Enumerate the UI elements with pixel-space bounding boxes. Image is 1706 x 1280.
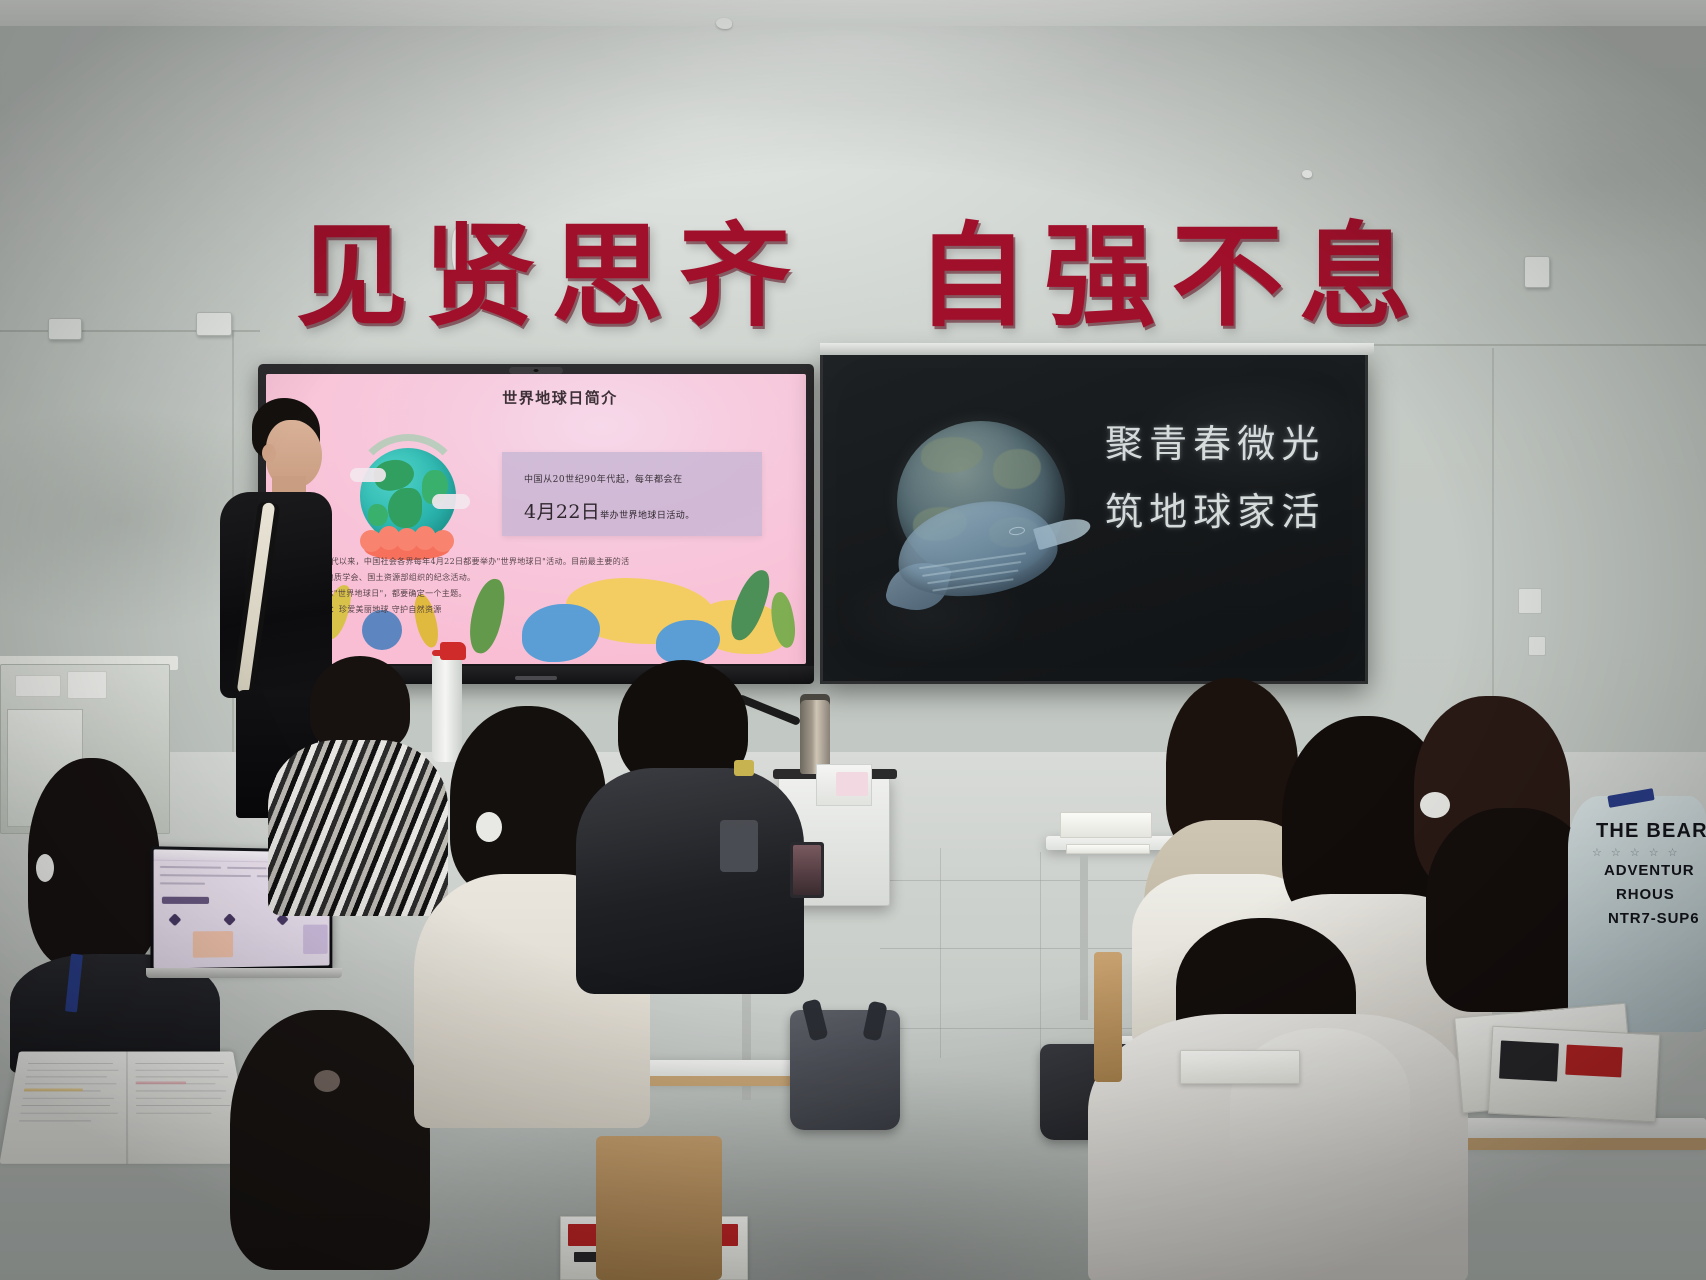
laptop-keyboard[interactable] (146, 968, 342, 978)
wall-joint (1492, 348, 1494, 748)
hair-tie (36, 854, 54, 882)
wall-chip (1302, 170, 1312, 178)
jacket-panel (720, 820, 758, 872)
smartboard-display[interactable]: 世界地球日简介 (258, 364, 814, 684)
wall-chip (716, 18, 732, 29)
callout-line1: 中国从20世纪90年代起，每年都会在 (524, 472, 683, 485)
paper-title-band (1565, 1045, 1622, 1078)
chalk-slogan-line1: 聚青春微光 (1105, 413, 1325, 468)
jacket-text-line3: RHOUS (1616, 886, 1675, 903)
student-center-2 (580, 660, 800, 990)
jacket-text-line4: NTR7-SUP6 (1608, 910, 1699, 927)
whale-groove (922, 561, 1021, 577)
notebook (1180, 1050, 1300, 1084)
chalk-slogan-line2: 筑地球家活 (1105, 481, 1325, 536)
callout-tail: 举办世界地球日活动。 (600, 511, 695, 521)
slide-paragraph-line: 2019年主题：珍爱美丽地球 守护自然资源 (284, 604, 792, 615)
slide-title: 世界地球日简介 (266, 387, 806, 408)
ceiling-strip (0, 0, 1706, 26)
bullet-icon (223, 913, 236, 926)
whale-icon (887, 469, 1087, 619)
text-line (227, 867, 266, 870)
wall-socket (48, 318, 82, 340)
slide-paragraph-line: 20世纪90年代以来，中国社会各界每年4月22日都要举办"世界地球日"活动。目前… (284, 556, 792, 567)
text-line (19, 1121, 91, 1122)
wall-socket (196, 312, 232, 336)
text-line (26, 1077, 107, 1078)
highlight-mark (136, 1081, 187, 1084)
wall-clip (1528, 636, 1546, 656)
student-jacket (576, 768, 804, 994)
chalkboard: 聚青春微光 筑地球家活 (820, 352, 1368, 684)
callout-line2: 4月22日举办世界地球日活动。 (524, 497, 695, 524)
shelf-item (67, 671, 107, 699)
paper-graphic (1499, 1041, 1559, 1082)
jacket-text-line2: ADVENTUR (1604, 862, 1695, 879)
text-line (136, 1113, 211, 1114)
map-shape (656, 620, 720, 664)
presenter-ear (262, 444, 276, 462)
text-line (136, 1098, 221, 1099)
callout-date: 4月22日 (524, 501, 600, 523)
text-line (160, 866, 221, 869)
text-line (20, 1113, 118, 1114)
thermos-flask (800, 700, 830, 774)
whale-earth-chalk-art (879, 411, 1089, 626)
brand-logo (515, 676, 557, 680)
student-hair (230, 1010, 430, 1270)
desk-leg (1080, 850, 1088, 1020)
leaf-shape (409, 592, 443, 649)
cloud-icon (350, 468, 386, 482)
text-line (160, 874, 251, 877)
side-panel (303, 925, 328, 955)
text-line (28, 1063, 113, 1064)
backpack (790, 1010, 900, 1130)
landmass (921, 437, 983, 473)
text-line (22, 1105, 110, 1106)
book-gutter (126, 1052, 128, 1164)
wall-socket (1524, 256, 1550, 288)
jacket-text-line1: THE BEAR (1596, 820, 1706, 843)
hair-tie (1420, 792, 1450, 818)
text-line (25, 1084, 116, 1085)
phone-screen (793, 845, 821, 895)
shelf-item (15, 675, 61, 697)
bullet-icon (168, 913, 181, 926)
whale-body (891, 492, 1062, 605)
chair-frame (1094, 952, 1122, 1082)
hair-tie (476, 812, 502, 842)
continent-shape (388, 488, 422, 528)
slide-paragraph-line: 每个中国纪念"世界地球日"，都要确定一个主题。 (284, 588, 792, 599)
wall-slogan-right: 自强不息 (916, 186, 1427, 348)
wall-slogan-left: 见贤思齐 (296, 186, 807, 348)
collar-tag (734, 760, 754, 776)
continent-shape (368, 504, 388, 526)
classroom-photo: 见贤思齐 自强不息 世界地球日简介 (0, 0, 1706, 1280)
hair-highlight (314, 1070, 340, 1092)
slide-paragraph-line: 动是由中国地质学会、国土资源部组织的纪念活动。 (284, 572, 792, 583)
chalkboard-rail (820, 343, 1374, 355)
chair-back (596, 1136, 722, 1280)
section-header (162, 897, 209, 904)
camera-icon (509, 367, 563, 374)
tissue-box-label (836, 772, 868, 796)
wall-clip (1518, 588, 1542, 614)
image-thumbnail (193, 931, 233, 958)
cloud-shape (362, 610, 402, 650)
text-line (160, 882, 205, 884)
student-right-4 (1088, 918, 1448, 1280)
highlight-mark (24, 1088, 83, 1091)
text-line (27, 1070, 118, 1071)
text-line (23, 1098, 114, 1099)
slide-callout-box: 中国从20世纪90年代起，每年都会在 4月22日举办世界地球日活动。 (502, 452, 762, 536)
student-hair (310, 656, 410, 752)
text-line (136, 1070, 220, 1071)
cloud-icon (432, 494, 470, 509)
presentation-slide: 世界地球日简介 (266, 374, 806, 664)
jacket-stars: ☆ ☆ ☆ ☆ ☆ (1592, 846, 1681, 859)
